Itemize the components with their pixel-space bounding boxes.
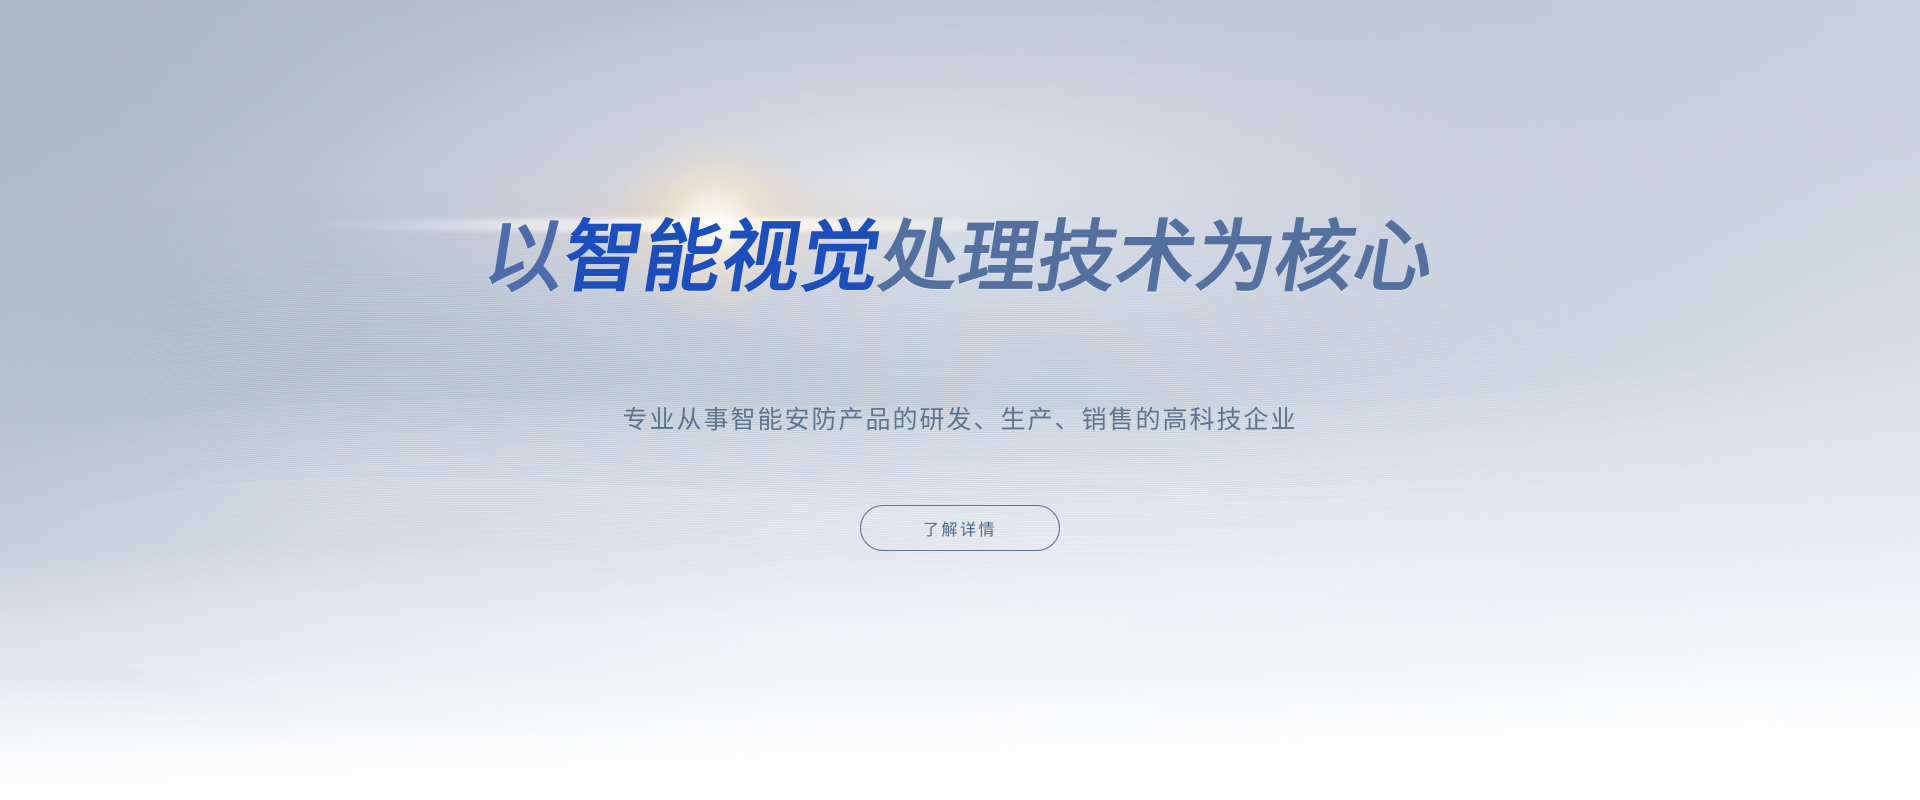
page-title: 以智能视觉处理技术为核心: [0, 218, 1920, 296]
hero-banner: 以智能视觉处理技术为核心 专业从事智能安防产品的研发、生产、销售的高科技企业 了…: [0, 0, 1920, 800]
page-subtitle: 专业从事智能安防产品的研发、生产、销售的高科技企业: [0, 404, 1920, 438]
learn-more-button[interactable]: 了解详情: [860, 505, 1060, 551]
headline-segment-tail: 处理技术为核心: [875, 218, 1440, 296]
hero-content: 以智能视觉处理技术为核心 专业从事智能安防产品的研发、生产、销售的高科技企业 了…: [0, 0, 1920, 800]
headline-segment-accent: 智能视觉: [559, 218, 887, 296]
headline-segment-lead: 以: [480, 218, 571, 296]
